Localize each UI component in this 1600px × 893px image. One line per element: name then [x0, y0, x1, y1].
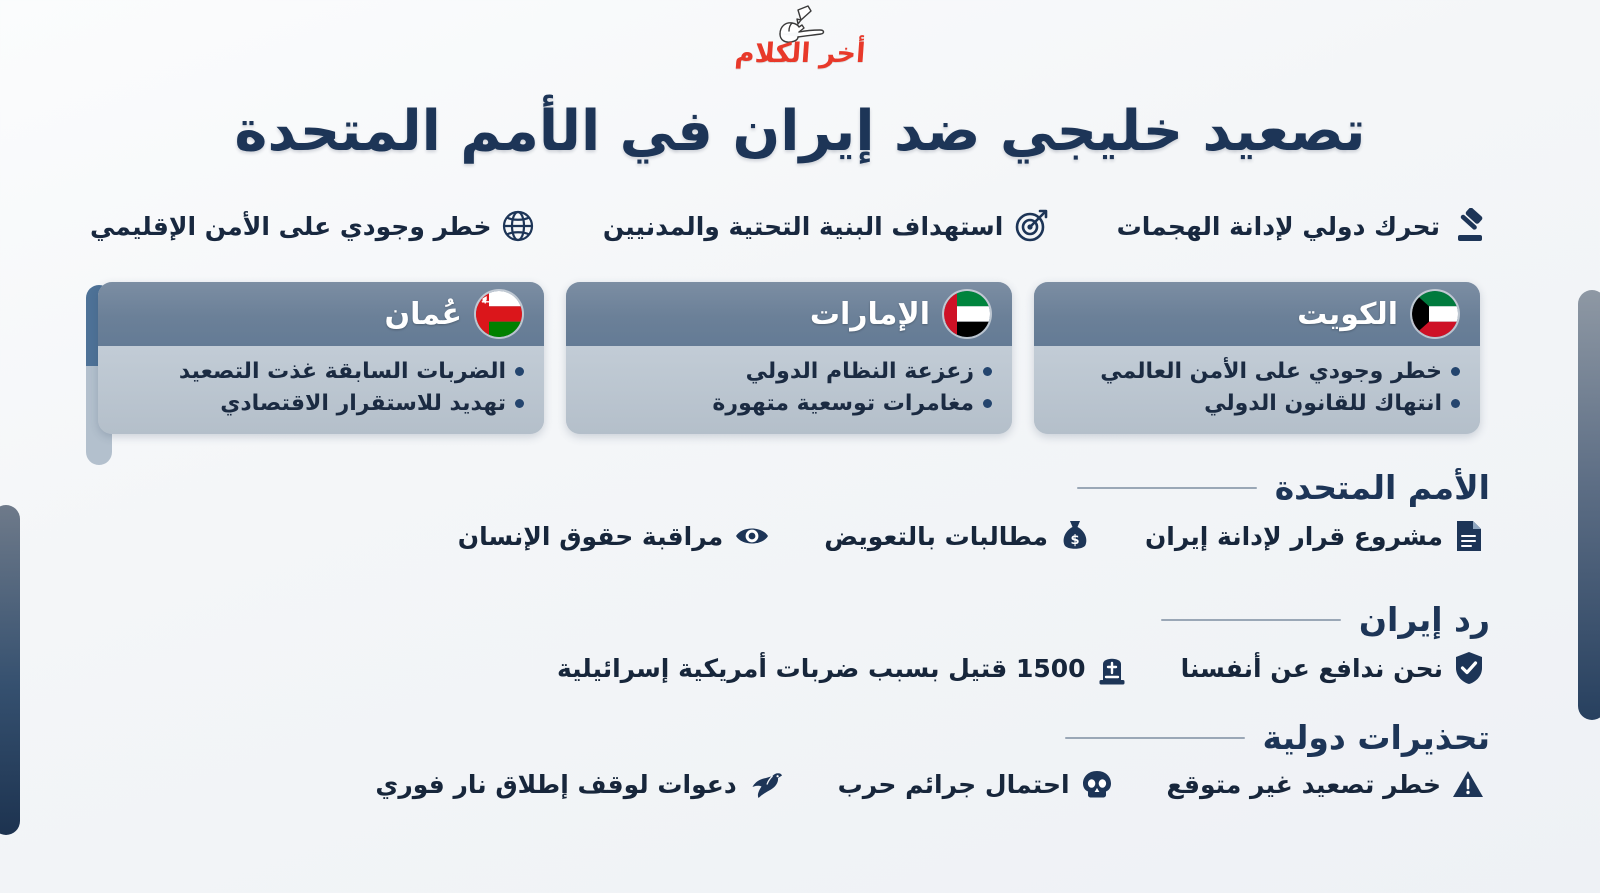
page-title: تصعيد خليجي ضد إيران في الأمم المتحدة — [0, 100, 1600, 164]
bullet-label: مغامرات توسعية متهورة — [712, 388, 974, 420]
section-items: مشروع قرار لإدانة إيران $ مطالبات بالتعو… — [70, 519, 1490, 553]
key-point-label: تحرك دولي لإدانة الهجمات — [1117, 212, 1440, 241]
section-item-label: نحن ندافع عن أنفسنا — [1181, 654, 1443, 683]
section-item-human-rights: مراقبة حقوق الإنسان — [458, 522, 771, 551]
section-rule — [1077, 487, 1257, 489]
bullet-dot — [515, 367, 524, 376]
bullet-label: زعزعة النظام الدولي — [746, 356, 974, 388]
target-icon — [1013, 208, 1049, 244]
bullet-dot — [1451, 367, 1460, 376]
bullet-label: انتهاك للقانون الدولي — [1204, 388, 1442, 420]
skull-icon — [1081, 769, 1113, 799]
bullet-label: تهديد للاستقرار الاقتصادي — [220, 388, 506, 420]
section-iran-response: رد إيران نحن ندافع عن أنفسنا — [70, 600, 1490, 685]
dove-icon — [748, 769, 784, 799]
section-title: رد إيران — [1359, 600, 1490, 639]
section-item-label: مطالبات بالتعويض — [824, 522, 1048, 551]
section-item-label: خطر تصعيد غير متوقع — [1167, 770, 1441, 799]
section-item-unexpected-escalation: خطر تصعيد غير متوقع — [1167, 769, 1484, 799]
country-name: الكويت — [1297, 297, 1398, 332]
brand-logo: أخر الكلام — [0, 4, 1600, 94]
section-item-resolution: مشروع قرار لإدانة إيران — [1145, 519, 1484, 553]
card-header: عُمان — [98, 282, 544, 346]
infographic-page: أخر الكلام تصعيد خليجي ضد إيران في الأمم… — [0, 0, 1600, 893]
bullet-label: الضربات السابقة غذت التصعيد — [179, 356, 506, 388]
section-item-label: مراقبة حقوق الإنسان — [458, 522, 724, 551]
card-body: زعزعة النظام الدولي مغامرات توسعية متهور… — [566, 346, 1012, 434]
document-icon — [1454, 519, 1484, 553]
section-header: تحذيرات دولية — [70, 718, 1490, 757]
card-header: الكويت — [1034, 282, 1480, 346]
section-item-compensation: $ مطالبات بالتعويض — [824, 519, 1091, 553]
key-point-globe: خطر وجودي على الأمن الإقليمي — [90, 209, 535, 243]
bullet-dot — [1451, 399, 1460, 408]
section-item-ceasefire: دعوات لوقف إطلاق نار فوري — [375, 769, 783, 799]
kuwait-flag-icon — [1412, 291, 1458, 337]
card-bullet: زعزعة النظام الدولي — [586, 356, 992, 388]
country-cards: الكويت خطر وجودي على الأمن العالمي انتها… — [98, 282, 1480, 434]
section-header: رد إيران — [70, 600, 1490, 639]
section-item-war-crimes: احتمال جرائم حرب — [838, 769, 1113, 799]
section-header: الأمم المتحدة — [70, 468, 1490, 507]
gavel-icon — [1450, 208, 1490, 244]
country-name: الإمارات — [810, 297, 930, 332]
bullet-label: خطر وجودي على الأمن العالمي — [1100, 356, 1442, 388]
country-card-uae[interactable]: الإمارات زعزعة النظام الدولي مغامرات توس… — [566, 282, 1012, 434]
card-bullet: الضربات السابقة غذت التصعيد — [118, 356, 524, 388]
section-title: تحذيرات دولية — [1263, 718, 1490, 757]
globe-icon — [501, 209, 535, 243]
section-title: الأمم المتحدة — [1275, 468, 1490, 507]
card-body: الضربات السابقة غذت التصعيد تهديد للاستق… — [98, 346, 544, 434]
key-point-target: استهداف البنية التحتية والمدنيين — [603, 208, 1050, 244]
svg-text:$: $ — [1070, 533, 1079, 548]
bullet-dot — [983, 399, 992, 408]
section-item-label: 1500 قتيل بسبب ضربات أمريكية إسرائيلية — [557, 654, 1086, 683]
section-item-self-defense: نحن ندافع عن أنفسنا — [1181, 651, 1484, 685]
card-body: خطر وجودي على الأمن العالمي انتهاك للقان… — [1034, 346, 1480, 434]
section-rule — [1161, 619, 1341, 621]
key-points-row: تحرك دولي لإدانة الهجمات استهداف البنية … — [90, 208, 1490, 244]
key-point-gavel: تحرك دولي لإدانة الهجمات — [1117, 208, 1490, 244]
country-name: عُمان — [385, 297, 462, 332]
logo-text: أخر الكلام — [734, 38, 866, 69]
section-item-casualties: 1500 قتيل بسبب ضربات أمريكية إسرائيلية — [557, 651, 1127, 685]
shield-check-icon — [1454, 651, 1484, 685]
key-point-label: استهداف البنية التحتية والمدنيين — [603, 212, 1004, 241]
section-item-label: دعوات لوقف إطلاق نار فوري — [375, 770, 736, 799]
card-header: الإمارات — [566, 282, 1012, 346]
section-item-label: احتمال جرائم حرب — [838, 770, 1070, 799]
bullet-dot — [515, 399, 524, 408]
section-items: نحن ندافع عن أنفسنا 1500 قتيل بسبب ضربات… — [70, 651, 1490, 685]
warning-triangle-icon — [1452, 769, 1484, 799]
country-card-kuwait[interactable]: الكويت خطر وجودي على الأمن العالمي انتها… — [1034, 282, 1480, 434]
section-items: خطر تصعيد غير متوقع احتمال جرائم حرب — [70, 769, 1490, 799]
eye-icon — [734, 523, 770, 549]
card-bullet: مغامرات توسعية متهورة — [586, 388, 992, 420]
oman-flag-icon — [476, 291, 522, 337]
bullet-dot — [983, 367, 992, 376]
uae-flag-icon — [944, 291, 990, 337]
section-international-warnings: تحذيرات دولية خطر تصعيد غير متوقع — [70, 718, 1490, 799]
money-bag-icon: $ — [1059, 519, 1091, 553]
key-point-label: خطر وجودي على الأمن الإقليمي — [90, 212, 491, 241]
country-card-oman[interactable]: عُمان الضربات السابقة غذت التصعيد تهديد … — [98, 282, 544, 434]
tombstone-icon — [1097, 651, 1127, 685]
section-item-label: مشروع قرار لإدانة إيران — [1145, 522, 1443, 551]
card-bullet: تهديد للاستقرار الاقتصادي — [118, 388, 524, 420]
card-bullet: خطر وجودي على الأمن العالمي — [1054, 356, 1460, 388]
section-rule — [1065, 737, 1245, 739]
section-united-nations: الأمم المتحدة مشروع قرار لإدانة إيران — [70, 468, 1490, 553]
card-bullet: انتهاك للقانون الدولي — [1054, 388, 1460, 420]
